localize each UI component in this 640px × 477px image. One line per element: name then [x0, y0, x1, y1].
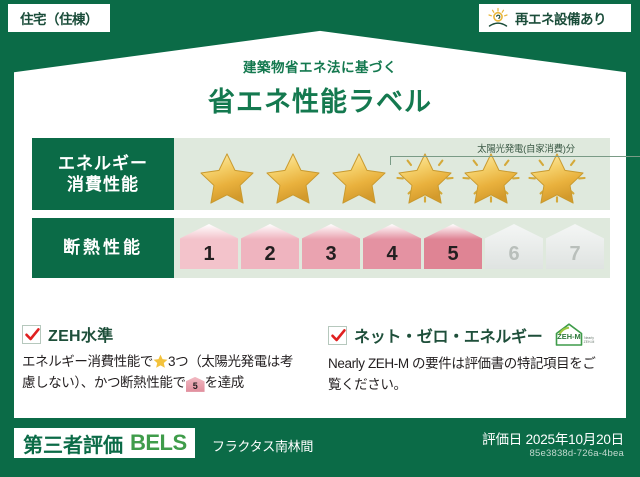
insulation-grade-5: 5: [424, 224, 482, 269]
net-zero-energy-note: ネット・ゼロ・エネルギー ZEH-M Nearly ZEH-M Nearly Z…: [320, 322, 618, 396]
star-icon: [196, 150, 258, 206]
zeh-standard-checkbox[interactable]: [22, 325, 41, 344]
label-subtitle: 建築物省エネ法に基づく: [0, 56, 640, 76]
insulation-grade-scale: 1234567: [174, 224, 610, 269]
renewable-energy-badge: 再エネ設備あり: [479, 4, 631, 32]
net-zero-energy-header: ネット・ゼロ・エネルギー ZEH-M Nearly ZEH-M: [328, 322, 604, 348]
check-icon: [24, 326, 41, 343]
insulation-performance-value: 1234567: [174, 218, 610, 278]
zeh-standard-body: エネルギー消費性能で3つ（太陽光発電は考慮しない）、かつ断熱性能で5を達成: [22, 352, 306, 394]
building-type-label: 住宅（住棟）: [20, 8, 98, 28]
zeh-standard-body-part3: を達成: [205, 375, 244, 390]
energy-performance-label-line2: 消費性能: [67, 174, 139, 195]
label-title: 省エネ性能ラベル: [0, 80, 640, 119]
insulation-grade-2: 2: [241, 224, 299, 269]
bels-en-label: BELS: [130, 430, 187, 456]
insulation-grade-inline-badge: 5: [186, 377, 205, 392]
criteria-notes: ZEH水準 エネルギー消費性能で3つ（太陽光発電は考慮しない）、かつ断熱性能で5…: [22, 322, 618, 396]
insulation-performance-label-text: 断熱性能: [63, 237, 143, 258]
energy-performance-label: エネルギー 消費性能: [32, 138, 174, 210]
solar-bracket-line: [390, 156, 640, 165]
insulation-grade-number: 7: [569, 244, 580, 264]
building-name: フラクタス南林間: [212, 436, 313, 455]
zeh-standard-body-part1: エネルギー消費性能で: [22, 354, 153, 369]
insulation-grade-1: 1: [180, 224, 238, 269]
net-zero-energy-body: Nearly ZEH-M の要件は評価書の特記項目をご覧ください。: [328, 354, 604, 396]
insulation-grade-number: 3: [325, 244, 336, 264]
solar-bracket: 太陽光発電(自家消費)分: [386, 142, 640, 166]
insulation-grade-number: 5: [447, 244, 458, 264]
insulation-grade-3: 3: [302, 224, 360, 269]
label-titles: 建築物省エネ法に基づく 省エネ性能ラベル: [0, 56, 640, 119]
insulation-grade-number: 1: [203, 244, 214, 264]
net-zero-energy-checkbox[interactable]: [328, 326, 347, 345]
solar-bracket-label: 太陽光発電(自家消費)分: [386, 141, 640, 155]
star-icon: [328, 150, 390, 206]
energy-performance-label-line1: エネルギー: [58, 153, 148, 174]
insulation-performance-label: 断熱性能: [32, 218, 174, 278]
zeh-m-logo-icon: ZEH-M Nearly ZEH-M: [553, 322, 595, 348]
renewable-energy-label: 再エネ設備あり: [515, 8, 606, 28]
evaluation-id: 85e3838d-726a-4bea: [530, 448, 624, 459]
net-zero-energy-title: ネット・ゼロ・エネルギー: [354, 323, 542, 347]
insulation-grade-number: 4: [386, 244, 397, 264]
bels-plate: 第三者評価 BELS: [14, 428, 195, 458]
energy-performance-label: 住宅（住棟） 再エネ設備あり 建築物省エネ法に基づく 省エネ性能ラベル: [0, 0, 640, 477]
insulation-grade-number: 2: [264, 244, 275, 264]
insulation-grade-6: 6: [485, 224, 543, 269]
zeh-standard-title: ZEH水準: [48, 322, 114, 346]
building-type-badge: 住宅（住棟）: [8, 4, 110, 32]
performance-block: エネルギー 消費性能 太陽光発電(自家消費)分 断熱性能 1234567: [32, 138, 610, 278]
insulation-grade-7: 7: [546, 224, 604, 269]
bels-jp-label: 第三者評価: [23, 429, 123, 458]
star-icon: [262, 150, 324, 206]
star-icon: [153, 354, 168, 369]
insulation-performance-row: 断熱性能 1234567: [32, 218, 610, 278]
zeh-standard-note: ZEH水準 エネルギー消費性能で3つ（太陽光発電は考慮しない）、かつ断熱性能で5…: [22, 322, 320, 396]
sun-icon: [485, 7, 511, 29]
insulation-grade-number: 6: [508, 244, 519, 264]
evaluation-date: 評価日 2025年10月20日: [482, 428, 624, 448]
check-icon: [330, 327, 347, 344]
svg-text:ZEH-M: ZEH-M: [584, 340, 595, 344]
zeh-standard-header: ZEH水準: [22, 322, 306, 346]
insulation-grade-4: 4: [363, 224, 421, 269]
svg-text:ZEH-M: ZEH-M: [558, 332, 581, 341]
label-footer: 第三者評価 BELS フラクタス南林間 評価日 2025年10月20日 85e3…: [0, 420, 640, 477]
energy-performance-row: エネルギー 消費性能 太陽光発電(自家消費)分: [32, 138, 610, 210]
energy-performance-value: 太陽光発電(自家消費)分: [174, 138, 610, 210]
